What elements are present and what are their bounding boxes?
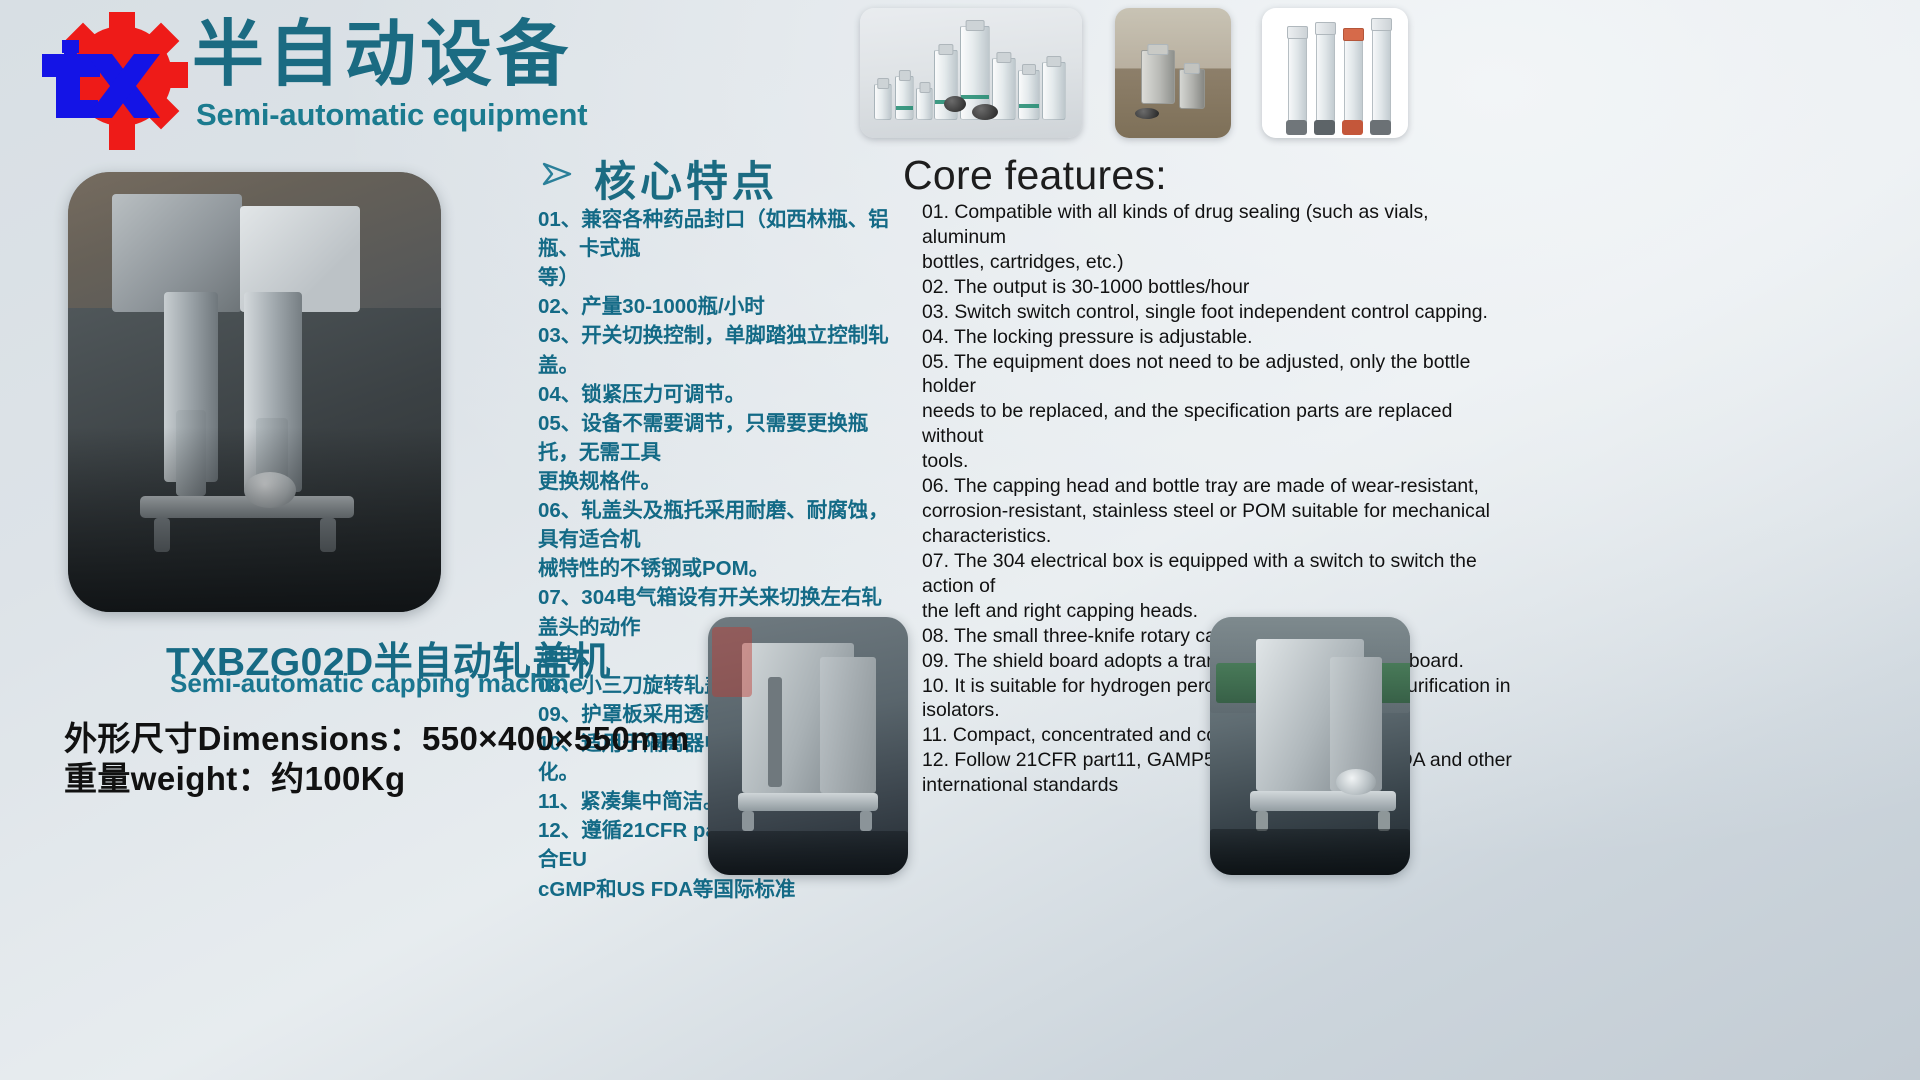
thumbnail-aluminum-bottles-photo[interactable]	[1115, 8, 1231, 138]
bullet-arrow-icon	[540, 158, 574, 190]
feature-line-en: corrosion-resistant, stainless steel or …	[922, 499, 1514, 524]
feature-line-en: 02. The output is 30-1000 bottles/hour	[922, 275, 1514, 300]
machine-photo-front[interactable]	[708, 617, 908, 875]
feature-line-en: 04. The locking pressure is adjustable.	[922, 325, 1514, 350]
feature-line-cn: 更换规格件。	[538, 467, 900, 496]
logo-gear-icon	[30, 10, 200, 150]
core-features-heading-en: Core features:	[903, 152, 1167, 199]
feature-line-en: 07. The 304 electrical box is equipped w…	[922, 549, 1514, 599]
page-title-cn: 半自动设备	[192, 18, 572, 94]
feature-line-en: 05. The equipment does not need to be ad…	[922, 350, 1514, 400]
feature-line-en: bottles, cartridges, etc.)	[922, 250, 1514, 275]
main-machine-photo[interactable]	[68, 172, 441, 612]
core-features-heading-cn: 核心特点	[594, 148, 778, 209]
thumbnail-cartridges-photo[interactable]	[1262, 8, 1408, 138]
feature-line-en: needs to be replaced, and the specificat…	[922, 399, 1514, 449]
feature-line-cn: cGMP和US FDA等国际标准	[538, 875, 900, 904]
feature-line-cn: 05、设备不需要调节，只需要更换瓶托，无需工具	[538, 409, 900, 467]
thumbnail-vials-photo[interactable]	[860, 8, 1082, 138]
feature-line-cn: 等）	[538, 263, 900, 292]
machine-photo-angled[interactable]	[1210, 617, 1410, 875]
machine-weight: 重量weight：约100Kg	[64, 752, 406, 800]
machine-model-en: Semi-automatic capping machine	[170, 668, 583, 699]
feature-line-cn: 04、锁紧压力可调节。	[538, 380, 900, 409]
feature-line-cn: 06、轧盖头及瓶托采用耐磨、耐腐蚀，具有适合机	[538, 496, 900, 554]
slide-root: 半自动设备 Semi-automatic equipment	[0, 0, 1920, 1080]
feature-line-cn: 01、兼容各种药品封口（如西林瓶、铝瓶、卡式瓶	[538, 205, 900, 263]
feature-line-cn: 02、产量30-1000瓶/小时	[538, 292, 900, 321]
feature-line-en: 06. The capping head and bottle tray are…	[922, 474, 1514, 499]
feature-line-en: characteristics.	[922, 524, 1514, 549]
feature-line-en: 01. Compatible with all kinds of drug se…	[922, 200, 1514, 250]
feature-line-cn: 械特性的不锈钢或POM。	[538, 554, 900, 583]
feature-line-en: 03. Switch switch control, single foot i…	[922, 300, 1514, 325]
feature-line-cn: 03、开关切换控制，单脚踏独立控制轧盖。	[538, 321, 900, 379]
feature-line-en: tools.	[922, 449, 1514, 474]
company-logo	[30, 10, 200, 145]
page-title-en: Semi-automatic equipment	[196, 97, 587, 133]
